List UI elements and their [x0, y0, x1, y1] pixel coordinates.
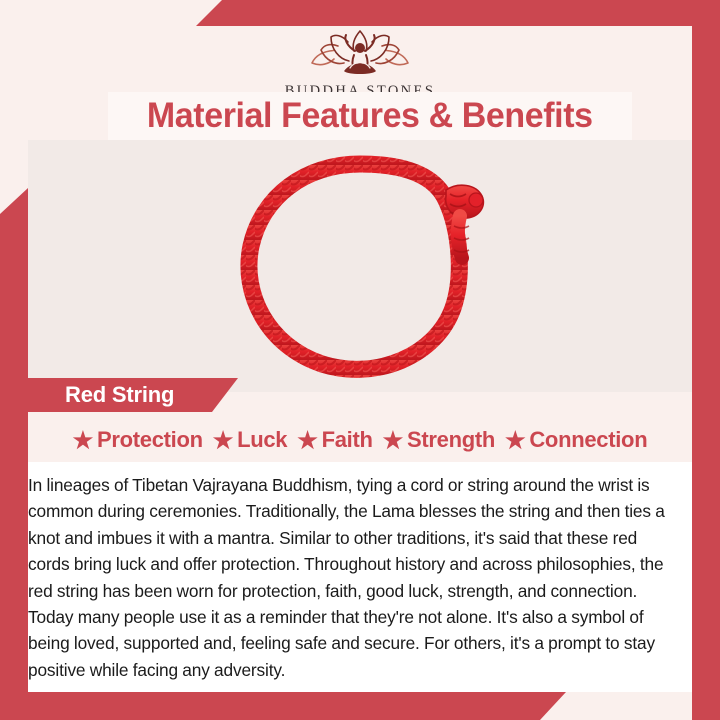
feature-label: Protection: [97, 427, 203, 453]
product-name: Red String: [28, 382, 174, 408]
feature-connection: ★ Connection: [505, 427, 647, 453]
feature-label: Connection: [529, 427, 647, 453]
feature-protection: ★ Protection: [73, 427, 203, 453]
star-icon: ★: [383, 429, 403, 452]
feature-label: Strength: [407, 427, 495, 453]
frame-band-left: [0, 188, 28, 720]
title-banner: Material Features & Benefits: [108, 92, 632, 140]
brand-logo: BUDDHA STONES: [28, 28, 692, 100]
product-photo: [28, 140, 692, 392]
infographic-page: BUDDHA STONES Material Features & Benefi…: [0, 0, 720, 720]
star-icon: ★: [297, 429, 317, 452]
red-string-bracelet-image: [210, 150, 510, 382]
feature-faith: ★ Faith: [297, 427, 372, 453]
content-area: BUDDHA STONES Material Features & Benefi…: [28, 26, 692, 692]
star-icon: ★: [73, 429, 93, 452]
feature-label: Faith: [322, 427, 373, 453]
page-title: Material Features & Benefits: [147, 96, 593, 136]
feature-strength: ★ Strength: [383, 427, 495, 453]
description-block: In lineages of Tibetan Vajrayana Buddhis…: [28, 462, 692, 692]
frame-band-bottom: [0, 692, 566, 720]
lotus-meditation-icon: [302, 28, 418, 80]
feature-label: Luck: [237, 427, 287, 453]
product-name-banner: Red String: [28, 378, 238, 412]
star-icon: ★: [505, 429, 525, 452]
frame-band-top: [196, 0, 720, 26]
frame-band-right: [692, 0, 720, 720]
feature-luck: ★ Luck: [213, 427, 287, 453]
description-text: In lineages of Tibetan Vajrayana Buddhis…: [28, 472, 678, 683]
feature-list: ★ Protection ★ Luck ★ Faith ★ Strength ★…: [28, 418, 692, 462]
star-icon: ★: [213, 429, 233, 452]
